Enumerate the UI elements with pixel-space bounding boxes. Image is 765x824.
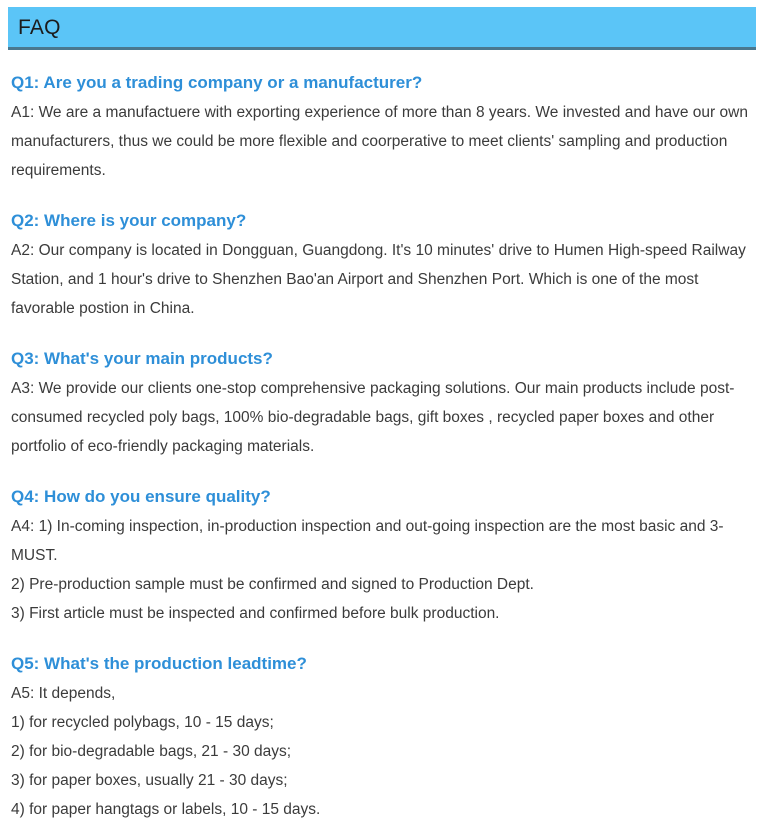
faq-question: Q3: What's your main products?: [11, 346, 753, 372]
faq-page: FAQ Q1: Are you a trading company or a m…: [0, 0, 765, 748]
faq-item: Q3: What's your main products? A3: We pr…: [11, 346, 753, 461]
faq-question: Q2: Where is your company?: [11, 208, 753, 234]
faq-header-title: FAQ: [18, 14, 61, 42]
faq-question: Q4: How do you ensure quality?: [11, 484, 753, 510]
faq-answer: A3: We provide our clients one-stop comp…: [11, 374, 753, 461]
faq-content: Q1: Are you a trading company or a manuf…: [11, 70, 753, 824]
faq-answer-line: 2) for bio-degradable bags, 21 - 30 days…: [11, 737, 753, 766]
faq-answer-line: 1) for recycled polybags, 10 - 15 days;: [11, 708, 753, 737]
faq-question: Q1: Are you a trading company or a manuf…: [11, 70, 753, 96]
faq-answer-line: A5: It depends,: [11, 679, 753, 708]
faq-item: Q2: Where is your company? A2: Our compa…: [11, 208, 753, 323]
faq-answer-line: 3) for paper boxes, usually 21 - 30 days…: [11, 766, 753, 795]
faq-answer-line: A4: 1) In-coming inspection, in-producti…: [11, 512, 753, 570]
faq-answer: A1: We are a manufactuere with exporting…: [11, 98, 753, 185]
faq-item: Q5: What's the production leadtime? A5: …: [11, 651, 753, 824]
faq-header-bar: FAQ: [8, 7, 756, 50]
faq-item: Q4: How do you ensure quality? A4: 1) In…: [11, 484, 753, 628]
faq-answer-line: 2) Pre-production sample must be confirm…: [11, 570, 753, 599]
faq-answer: A2: Our company is located in Dongguan, …: [11, 236, 753, 323]
faq-answer-line: 3) First article must be inspected and c…: [11, 599, 753, 628]
faq-item: Q1: Are you a trading company or a manuf…: [11, 70, 753, 185]
faq-answer-line: 4) for paper hangtags or labels, 10 - 15…: [11, 795, 753, 824]
faq-question: Q5: What's the production leadtime?: [11, 651, 753, 677]
